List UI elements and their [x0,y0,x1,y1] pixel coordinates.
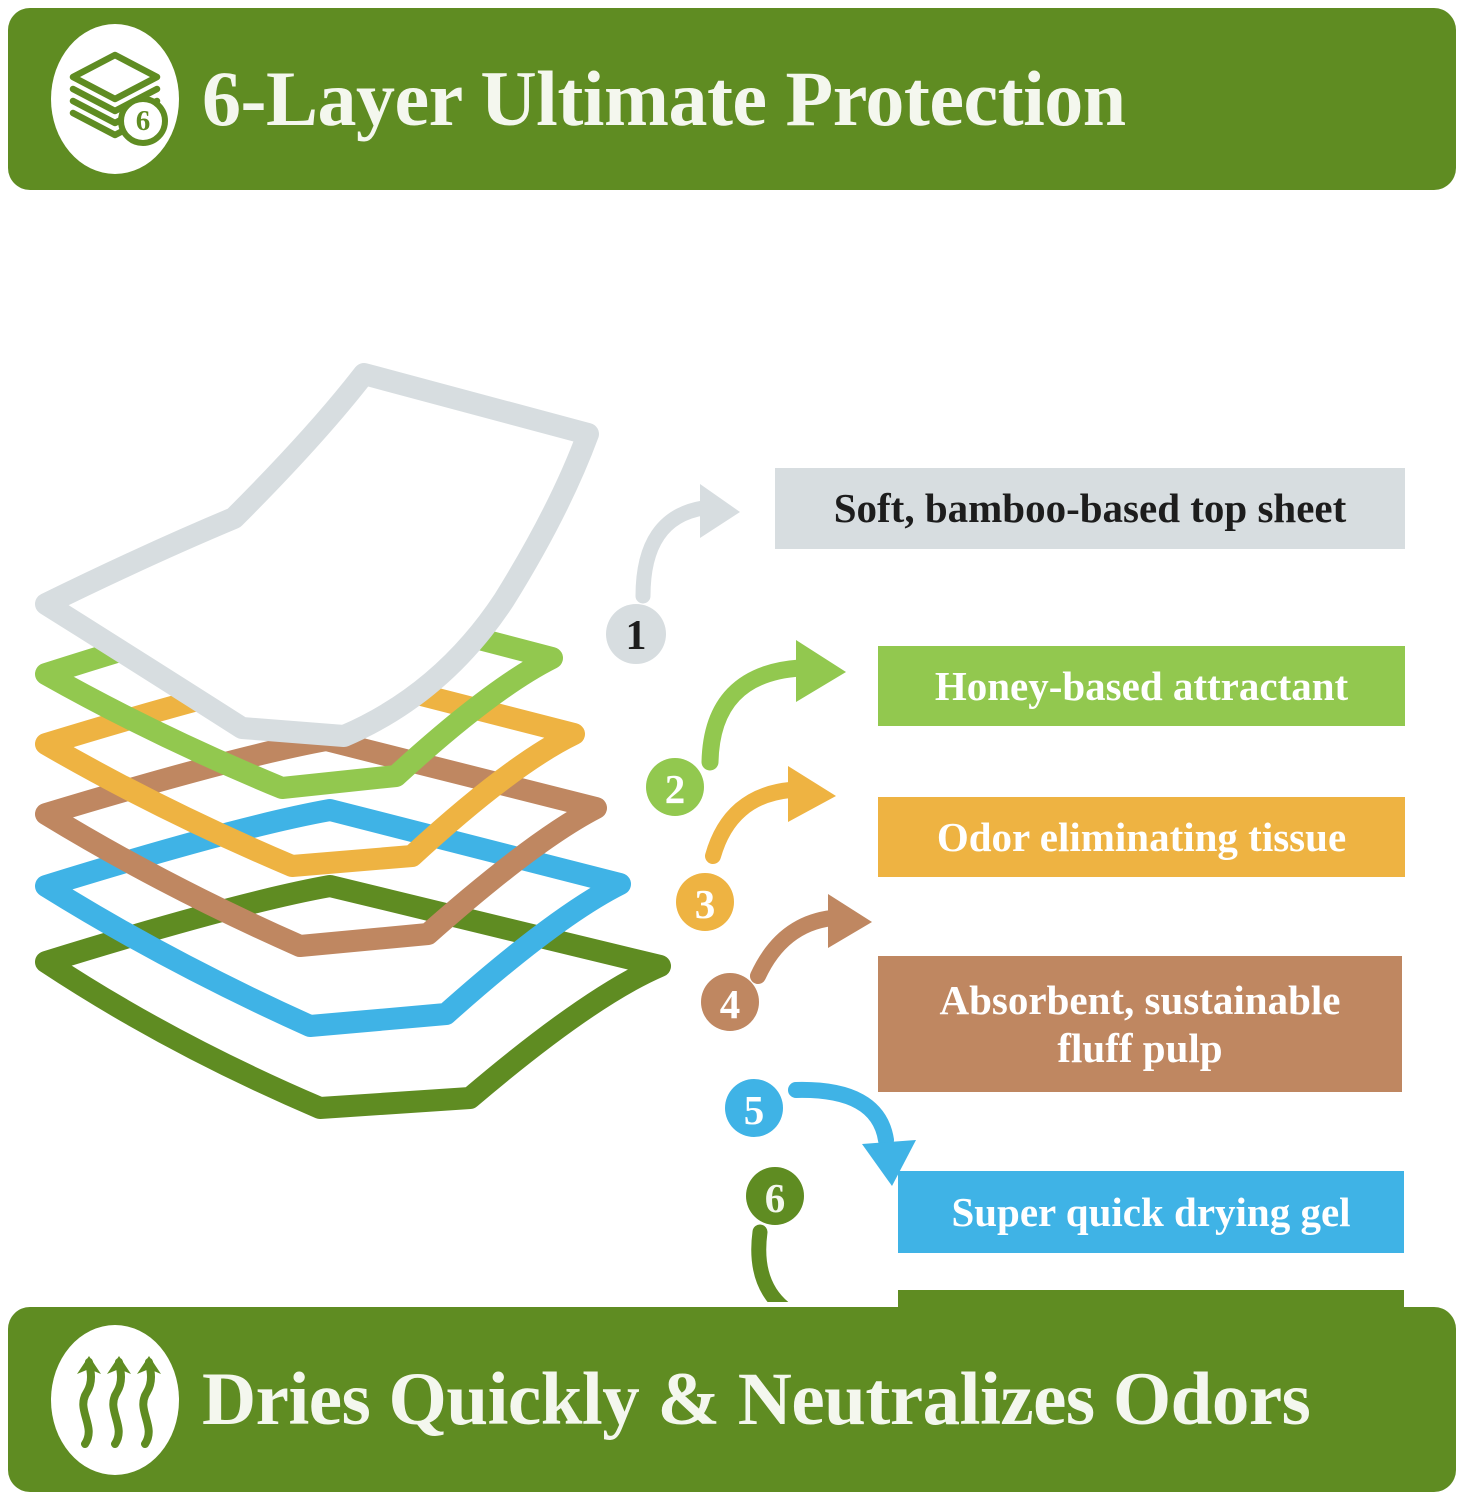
layer-label-2-line-1: Honey-based attractant [935,662,1348,710]
layer-marker-2: 2 [646,758,704,816]
layer-marker-6-number: 6 [765,1175,786,1221]
layer-stack-6-icon-glyph: 6 [59,43,171,155]
infographic-page: 6 6-Layer Ultimate Protection [0,0,1464,1500]
layer-label-4-line-2: fluff pulp [940,1024,1341,1072]
layer-marker-6: 6 [746,1167,804,1225]
connector-arrow-3 [713,766,836,856]
connector-arrow-4 [758,894,872,976]
rising-vapor-arrows-icon [50,1325,180,1475]
connector-arrow-1 [643,484,740,596]
layer-stack-6-icon: 6 [50,24,180,174]
layer-label-4-line-1: Absorbent, sustainable [940,976,1341,1024]
layer-marker-1-number: 1 [626,613,647,659]
layer-diagram: 1 2 3 4 5 6 Soft [0,196,1464,1302]
layer-marker-2-number: 2 [665,766,686,812]
header-banner: 6 6-Layer Ultimate Protection [8,8,1456,190]
layer-stack-illustration: 1 2 3 4 5 6 [0,196,1464,1302]
connector-arrow-2 [710,640,846,762]
rising-vapor-arrows-icon-glyph [63,1344,167,1456]
layer-label-box-3: Odor eliminating tissue [878,797,1405,877]
layer-label-3-line-1: Odor eliminating tissue [937,813,1346,861]
layer-marker-1: 1 [606,604,666,664]
layer-marker-3: 3 [676,873,734,931]
header-badge-number: 6 [136,105,151,137]
layer-label-1-line-1: Soft, bamboo-based top sheet [834,484,1347,532]
footer-title: Dries Quickly & Neutralizes Odors [202,1362,1456,1437]
footer-banner: Dries Quickly & Neutralizes Odors [8,1307,1456,1492]
layer-marker-5-number: 5 [744,1087,765,1133]
layer-label-box-4: Absorbent, sustainable fluff pulp [878,956,1402,1092]
layer-label-box-5: Super quick drying gel [898,1171,1404,1253]
layer-label-5-line-1: Super quick drying gel [951,1188,1350,1236]
connector-arrow-6 [759,1232,866,1302]
header-title: 6-Layer Ultimate Protection [202,60,1456,138]
layer-label-box-2: Honey-based attractant [878,646,1405,726]
layer-marker-5: 5 [725,1079,783,1137]
layer-label-box-1: Soft, bamboo-based top sheet [775,468,1405,549]
layer-marker-3-number: 3 [695,881,716,927]
layer-marker-4-number: 4 [720,981,741,1027]
layer-marker-4: 4 [701,973,759,1031]
